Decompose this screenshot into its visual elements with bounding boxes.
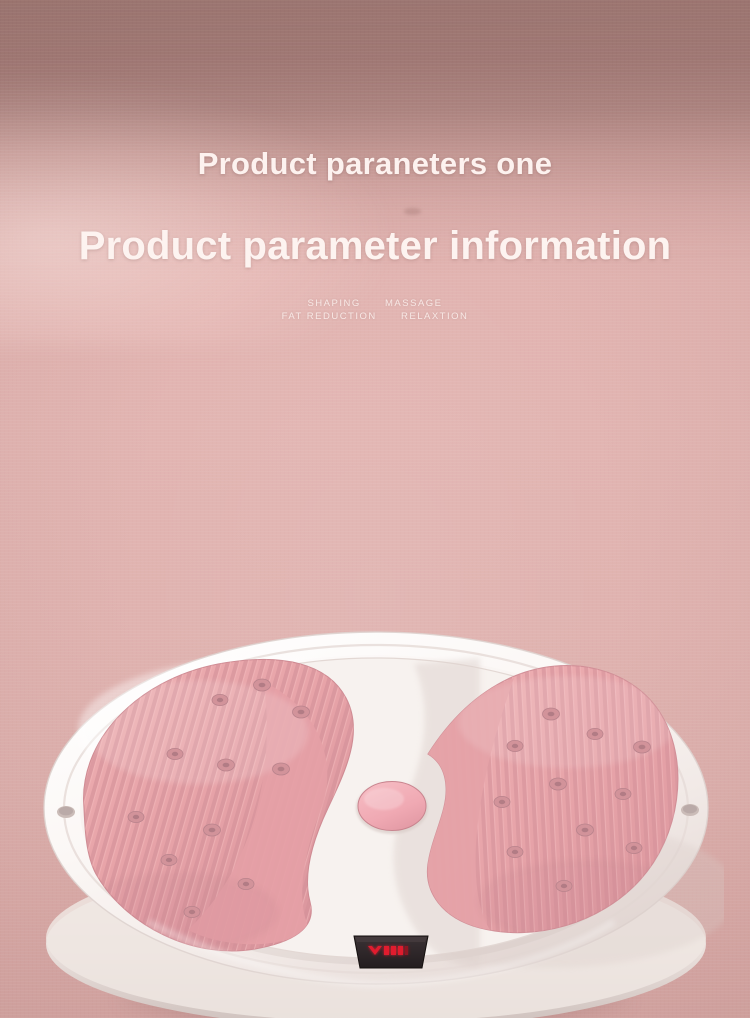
center-pivot-button[interactable] bbox=[356, 782, 428, 835]
product-illustration bbox=[28, 612, 724, 1018]
subtitle-massage: MASSAGE bbox=[385, 298, 443, 309]
subtitle-line-2: FAT REDUCTION RELAXTION bbox=[0, 310, 750, 323]
subtitle-relaxtion: RELAXTION bbox=[401, 311, 468, 322]
product-banner-image: Product paraneters one Product parameter… bbox=[0, 0, 750, 1018]
product-twist-waist-board bbox=[28, 612, 724, 1018]
page-title: Product parameter information bbox=[0, 182, 750, 269]
subtitle-block: SHAPING MASSAGE FAT REDUCTION RELAXTION bbox=[0, 269, 750, 323]
right-rim-recess bbox=[681, 804, 699, 816]
led-display-panel[interactable] bbox=[354, 936, 428, 968]
subtitle-fat-reduction: FAT REDUCTION bbox=[282, 311, 377, 322]
subtitle-line-1: SHAPING MASSAGE bbox=[0, 297, 750, 310]
left-rim-recess bbox=[57, 806, 75, 818]
headline-block: Product paraneters one Product parameter… bbox=[0, 0, 750, 323]
subtitle-shaping: SHAPING bbox=[307, 298, 360, 309]
eyebrow-heading: Product paraneters one bbox=[0, 0, 750, 182]
